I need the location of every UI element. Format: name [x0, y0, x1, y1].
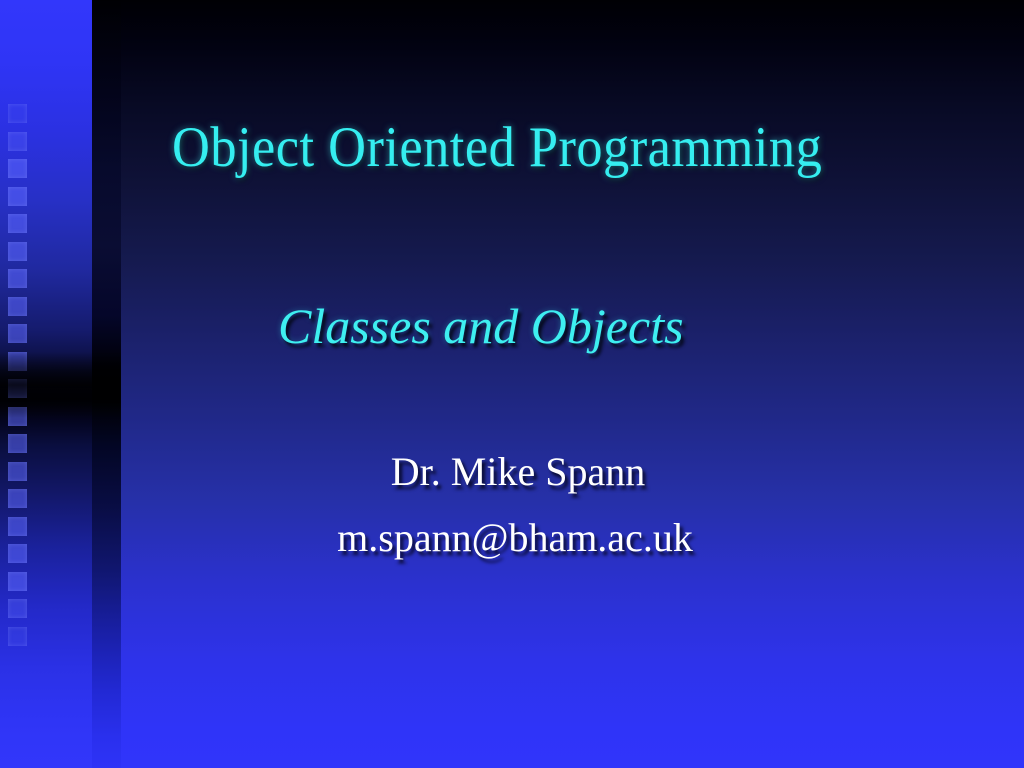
decorative-square	[8, 434, 27, 453]
decorative-square	[8, 379, 27, 398]
decorative-square	[8, 297, 27, 316]
decorative-square	[8, 132, 27, 151]
author-name: Dr. Mike Spann	[12, 452, 1024, 492]
decorative-square	[8, 627, 27, 646]
decorative-square	[8, 187, 27, 206]
decorative-square	[8, 599, 27, 618]
decorative-square	[8, 159, 27, 178]
title-slide: Object Oriented Programming Classes and …	[0, 0, 1024, 768]
decorative-square	[8, 214, 27, 233]
decorative-square	[8, 352, 27, 371]
decorative-square	[8, 104, 27, 123]
decorative-square	[8, 324, 27, 343]
decorative-square	[8, 242, 27, 261]
decorative-square-column	[8, 104, 28, 656]
slide-subtitle: Classes and Objects	[278, 300, 684, 353]
decorative-square	[8, 572, 27, 591]
author-email: m.spann@bham.ac.uk	[6, 518, 1024, 558]
sidebar-dark-edge	[92, 0, 121, 768]
slide-title: Object Oriented Programming	[172, 118, 822, 178]
decorative-square	[8, 269, 27, 288]
author-block: Dr. Mike Spann m.spann@bham.ac.uk	[0, 452, 1024, 558]
decorative-square	[8, 407, 27, 426]
